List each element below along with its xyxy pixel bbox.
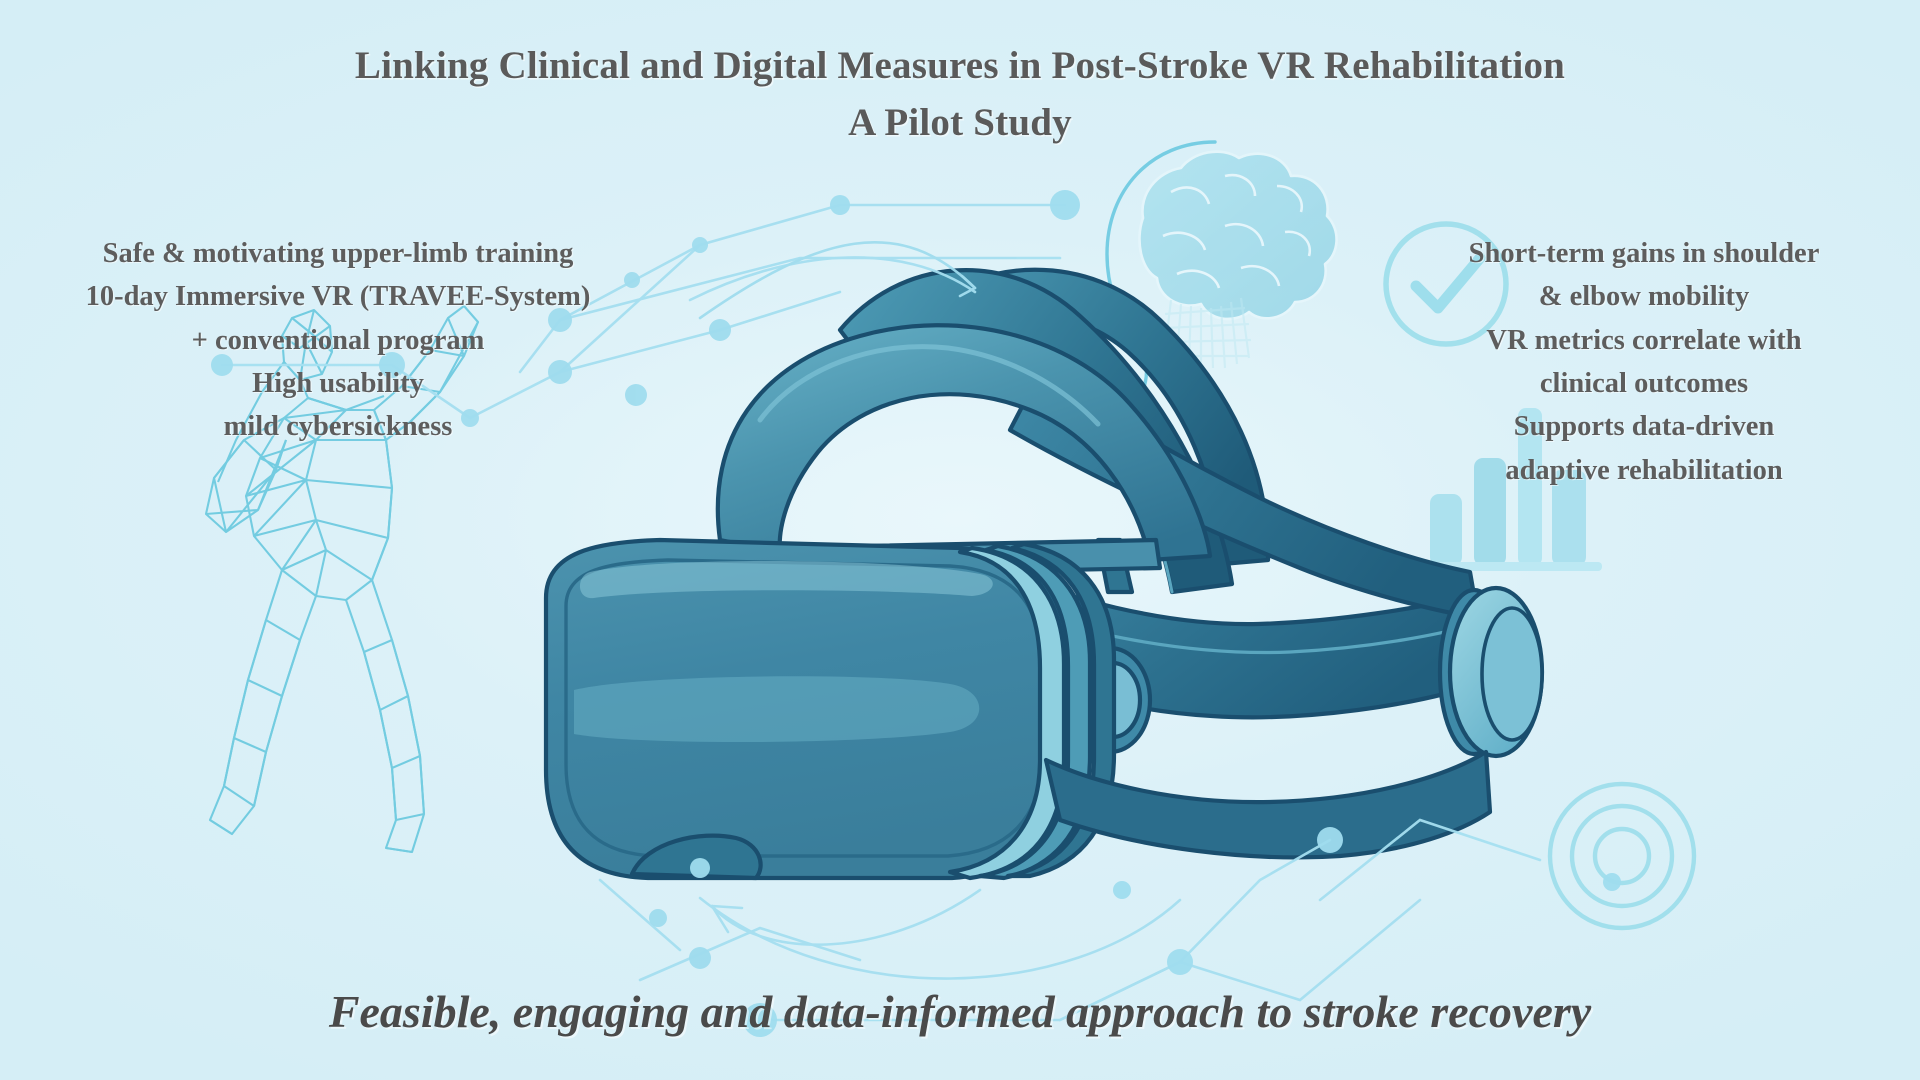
- right-findings-block: Short-term gains in shoulder & elbow mob…: [1384, 232, 1904, 492]
- right-line-1: Short-term gains in shoulder: [1384, 232, 1904, 275]
- right-line-4: clinical outcomes: [1384, 362, 1904, 405]
- headset-nose-notch: [632, 836, 761, 878]
- headset-top-strap: [840, 270, 1232, 592]
- right-line-6: adaptive rehabilitation: [1384, 449, 1904, 492]
- headset-strut-right: [1098, 540, 1132, 592]
- vr-headset-illustration: [0, 0, 1920, 1080]
- headset-top-strap-rear: [905, 270, 1268, 564]
- headset-visor: [546, 540, 1062, 878]
- headset-hood-lip: [768, 540, 1160, 576]
- title-line-2: A Pilot Study: [0, 97, 1920, 149]
- concentric-circles-icon: [1550, 784, 1694, 928]
- headset-visor-bezel: [566, 560, 1042, 856]
- left-line-4: High usability: [28, 362, 648, 405]
- headset-side-knob: [1086, 663, 1140, 737]
- headset-lens-rim-light: [950, 548, 1064, 878]
- brain-head-profile-icon: [1107, 142, 1337, 520]
- headset-strut-left: [786, 548, 812, 600]
- right-line-2: & elbow mobility: [1384, 275, 1904, 318]
- headset-hood: [718, 325, 1210, 560]
- headset-visor-highlight: [574, 676, 979, 742]
- left-line-1: Safe & motivating upper-limb training: [28, 232, 648, 275]
- left-line-5: mild cybersickness: [28, 405, 648, 448]
- poster-tagline: Feasible, engaging and data-informed app…: [0, 985, 1920, 1038]
- graphical-abstract-poster: Linking Clinical and Digital Measures in…: [0, 0, 1920, 1080]
- headset-side-plate: [1000, 560, 1104, 822]
- headset-side-hub: [1070, 648, 1150, 752]
- headset-side-strap: [960, 560, 1490, 717]
- headset-rear-dial: [1440, 588, 1542, 756]
- title-line-1: Linking Clinical and Digital Measures in…: [0, 40, 1920, 92]
- headset-lower-strap: [1046, 752, 1490, 857]
- left-findings-block: Safe & motivating upper-limb training 10…: [28, 232, 648, 449]
- left-line-3: + conventional program: [28, 319, 648, 362]
- headset-visor-gloss: [580, 561, 993, 598]
- headset-lens-rim-dark: [1008, 544, 1114, 876]
- right-line-3: VR metrics correlate with: [1384, 319, 1904, 362]
- right-line-5: Supports data-driven: [1384, 405, 1904, 448]
- network-nodes-decoration: [0, 0, 1920, 1080]
- poster-title: Linking Clinical and Digital Measures in…: [0, 40, 1920, 150]
- headset-lens-rim-mid: [980, 546, 1090, 878]
- background-decorations: [0, 0, 1920, 1080]
- left-line-2: 10-day Immersive VR (TRAVEE-System): [28, 275, 648, 318]
